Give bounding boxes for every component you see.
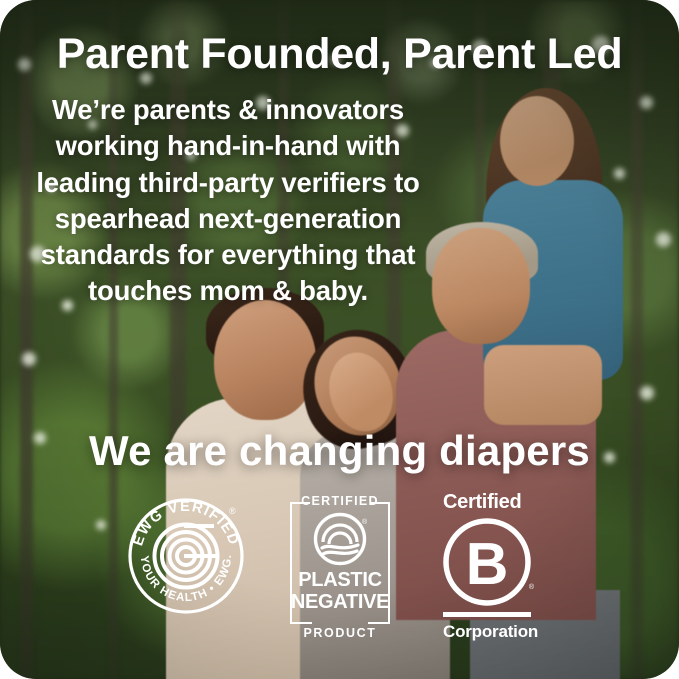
- bcorp-mark: B: [443, 518, 533, 606]
- bcorp-corporation-label: Corporation: [443, 623, 533, 640]
- plastic-negative-badge: CERTIFIED ® PLASTIC NEGATIVE PRODUCT: [288, 492, 392, 638]
- promo-card: Parent Founded, Parent Led We’re parents…: [0, 0, 679, 679]
- page-title: Parent Founded, Parent Led: [0, 32, 679, 77]
- plastic-line-2: NEGATIVE: [288, 592, 392, 614]
- b-corporation-badge: Certified B Corporation ®: [443, 492, 533, 638]
- plastic-bank-logo: ®: [313, 512, 367, 566]
- frame-corner-bottom-right: [368, 622, 390, 624]
- bcorp-certified-label: Certified: [443, 492, 533, 512]
- bcorp-letter: B: [466, 531, 509, 597]
- body-copy: We’re parents & innovators working hand-…: [26, 92, 430, 310]
- tagline: We are changing diapers: [0, 427, 679, 475]
- plastic-certified-label: CERTIFIED: [288, 494, 392, 508]
- wave-circle-icon: ®: [313, 512, 367, 566]
- plastic-registered-mark: ®: [362, 518, 368, 526]
- b-circle-icon: B: [443, 518, 531, 606]
- plastic-line-1: PLASTIC: [288, 570, 392, 592]
- ewg-verified-icon: EWG VERIFIED FOR YOUR HEALTH • EWG.ORG ®: [128, 498, 244, 614]
- plastic-negative-wordmark: PLASTIC NEGATIVE: [288, 570, 392, 613]
- ewg-registered-mark: ®: [229, 506, 236, 516]
- bcorp-divider: [443, 612, 531, 617]
- bcorp-registered-mark: ®: [529, 584, 534, 591]
- certification-badges: EWG VERIFIED FOR YOUR HEALTH • EWG.ORG ®…: [0, 492, 679, 642]
- frame-corner-bottom-left: [290, 622, 312, 624]
- plastic-product-label: PRODUCT: [295, 626, 384, 640]
- ewg-verified-badge: EWG VERIFIED FOR YOUR HEALTH • EWG.ORG ®: [128, 498, 244, 614]
